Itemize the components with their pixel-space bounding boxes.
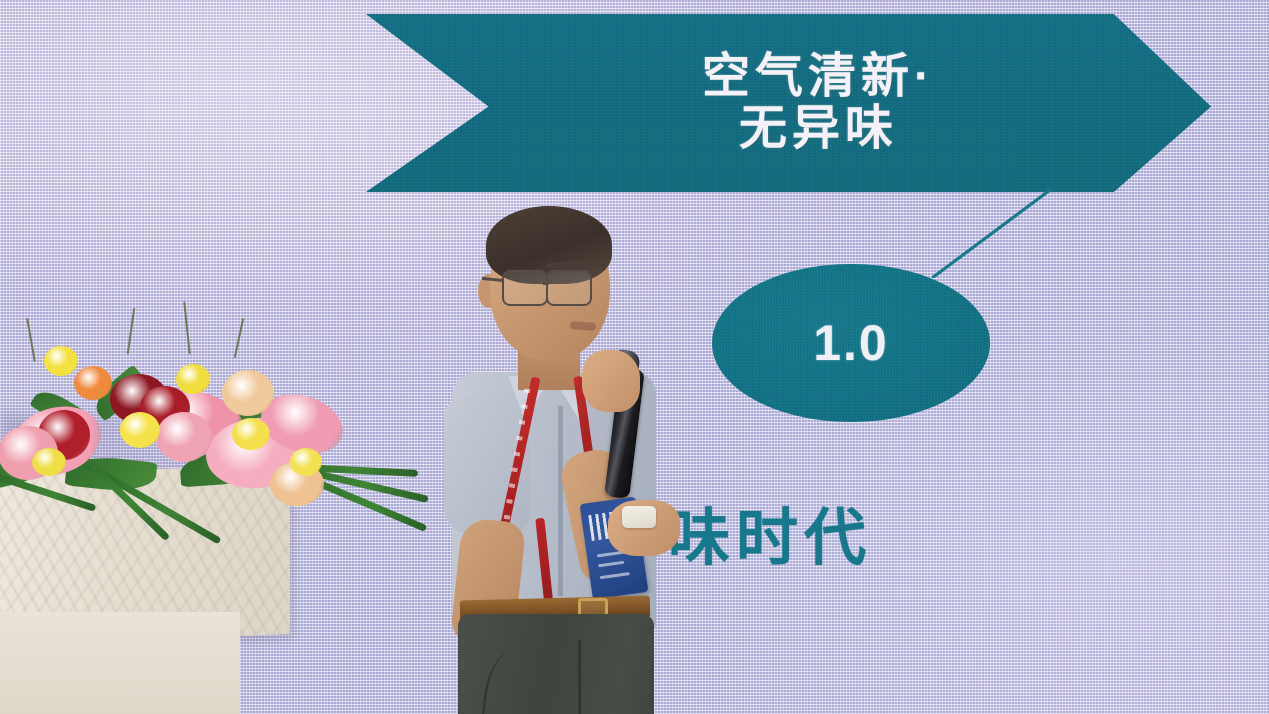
badge-text-line — [600, 572, 630, 579]
speaker-shirt-placket — [558, 406, 563, 596]
slide-banner-arrow: 空气清新· 无异味 — [366, 14, 1211, 192]
speaker-right-hand — [582, 350, 640, 412]
peach-rose — [222, 370, 274, 416]
version-badge-value: 1.0 — [813, 314, 889, 372]
planter-front-panel — [0, 612, 240, 714]
yellow-bloom — [176, 364, 210, 394]
yellow-bloom — [120, 412, 160, 448]
speaker-mouth — [570, 321, 596, 331]
speaker-figure — [430, 200, 680, 714]
floral-arrangement — [0, 300, 430, 530]
stem — [234, 318, 244, 358]
glasses-bridge — [543, 282, 549, 285]
stem — [26, 318, 36, 362]
version-badge-ellipse: 1.0 — [712, 264, 990, 422]
yellow-bloom — [32, 448, 66, 476]
stem — [183, 302, 190, 354]
trouser-crease — [578, 640, 581, 714]
yellow-bloom — [232, 418, 270, 450]
pink-rose — [156, 412, 212, 462]
glasses-right-lens — [546, 270, 592, 306]
banner-line-2: 无异味 — [739, 104, 898, 154]
banner-text-block: 空气清新· 无异味 — [366, 14, 1211, 192]
presentation-clicker — [622, 506, 656, 528]
badge-text-line — [598, 561, 624, 568]
yellow-bloom — [290, 448, 322, 476]
orange-rose — [74, 366, 112, 400]
glasses-left-lens — [502, 270, 548, 306]
stem — [127, 308, 135, 354]
stage-photo: 空气清新· 无异味 1.0 异味时代 — [0, 0, 1269, 714]
banner-line-1: 空气清新· — [702, 52, 935, 102]
yellow-bloom — [44, 346, 78, 376]
